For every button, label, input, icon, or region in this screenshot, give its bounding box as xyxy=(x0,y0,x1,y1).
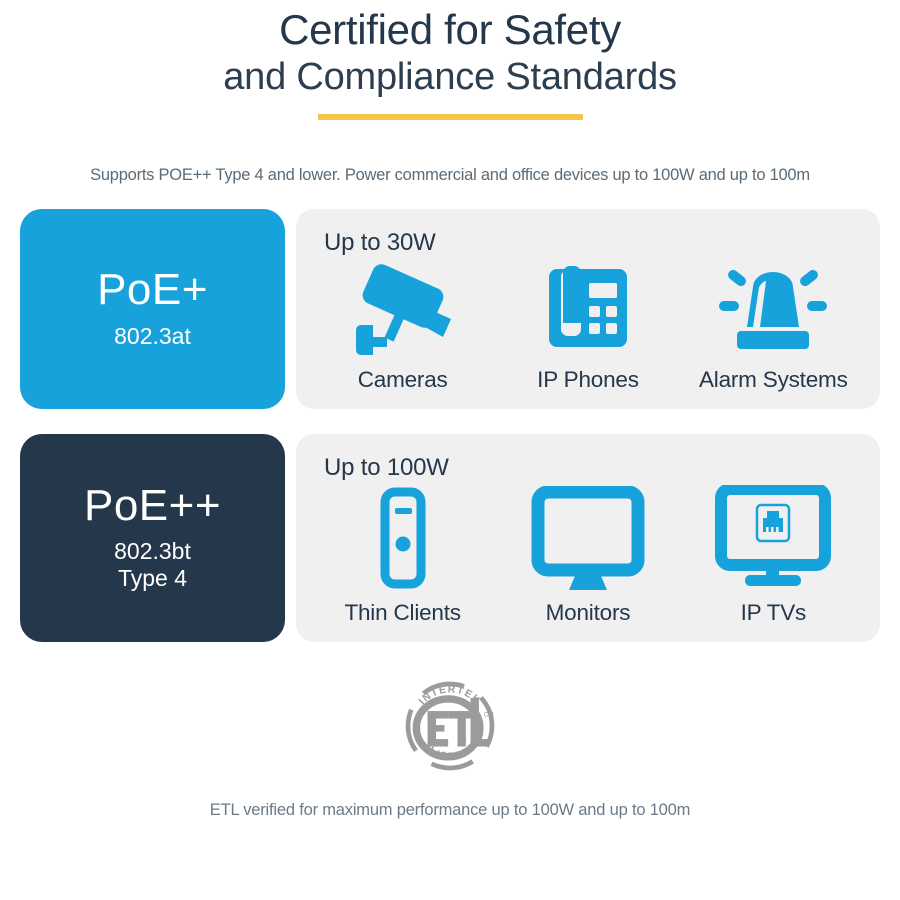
device-label-thin-clients: Thin Clients xyxy=(344,600,460,626)
monitor-icon xyxy=(531,482,645,594)
thin-client-tower-icon xyxy=(373,482,433,594)
poe-plusplus-device-list: Thin Clients Monitors xyxy=(310,482,866,630)
etl-arc-text-bottom: LISTED xyxy=(427,745,474,762)
poe-plus-power-heading: Up to 30W xyxy=(324,229,866,257)
security-camera-icon xyxy=(347,257,459,361)
device-item-alarm-systems: Alarm Systems xyxy=(682,257,865,393)
accent-divider xyxy=(318,114,583,120)
page-footer: CM INTERTEK LISTED ETL verified for maxi… xyxy=(0,670,900,820)
poe-plusplus-power-heading: Up to 100W xyxy=(324,454,866,482)
etl-verification-note: ETL verified for maximum performance up … xyxy=(0,801,900,820)
poe-plus-row: PoE+ 802.3at Up to 30W Cameras xyxy=(20,209,880,409)
device-item-monitors: Monitors xyxy=(496,482,679,626)
device-label-cameras: Cameras xyxy=(358,367,448,393)
subtitle-text: Supports POE++ Type 4 and lower. Power c… xyxy=(0,166,900,185)
device-item-cameras: Cameras xyxy=(311,257,494,393)
poe-plusplus-badge-standard: 802.3bt Type 4 xyxy=(114,538,191,592)
page-title-line-1: Certified for Safety xyxy=(0,6,900,55)
poe-plus-badge-standard: 802.3at xyxy=(114,323,191,350)
device-label-ip-phones: IP Phones xyxy=(537,367,639,393)
poe-plusplus-badge-title: PoE++ xyxy=(84,483,221,529)
device-label-ip-tvs: IP TVs xyxy=(741,600,807,626)
poe-plusplus-standard-line-1: 802.3bt xyxy=(114,538,191,565)
page-header: Certified for Safety and Compliance Stan… xyxy=(0,0,900,120)
poe-plusplus-row: PoE++ 802.3bt Type 4 Up to 100W Thin Cli… xyxy=(20,434,880,642)
poe-plusplus-badge: PoE++ 802.3bt Type 4 xyxy=(20,434,285,642)
device-item-ip-tvs: IP TVs xyxy=(682,482,865,626)
device-label-monitors: Monitors xyxy=(546,600,631,626)
poe-plus-badge: PoE+ 802.3at xyxy=(20,209,285,409)
etl-intertek-listed-logo: CM INTERTEK LISTED xyxy=(394,670,506,782)
etl-superscript-cm: CM xyxy=(484,711,494,718)
device-item-thin-clients: Thin Clients xyxy=(311,482,494,626)
ip-phone-icon xyxy=(539,257,637,361)
poe-plus-devices-panel: Up to 30W Cameras xyxy=(296,209,880,409)
page-title-line-2: and Compliance Standards xyxy=(0,55,900,100)
poe-plusplus-standard-line-2: Type 4 xyxy=(114,565,191,592)
device-item-ip-phones: IP Phones xyxy=(496,257,679,393)
ip-tv-icon xyxy=(714,482,832,594)
poe-plus-device-list: Cameras xyxy=(310,257,866,397)
poe-plus-badge-title: PoE+ xyxy=(97,267,208,313)
device-label-alarm-systems: Alarm Systems xyxy=(699,367,848,393)
poe-plusplus-devices-panel: Up to 100W Thin Clients xyxy=(296,434,880,642)
alarm-siren-icon xyxy=(713,257,833,361)
